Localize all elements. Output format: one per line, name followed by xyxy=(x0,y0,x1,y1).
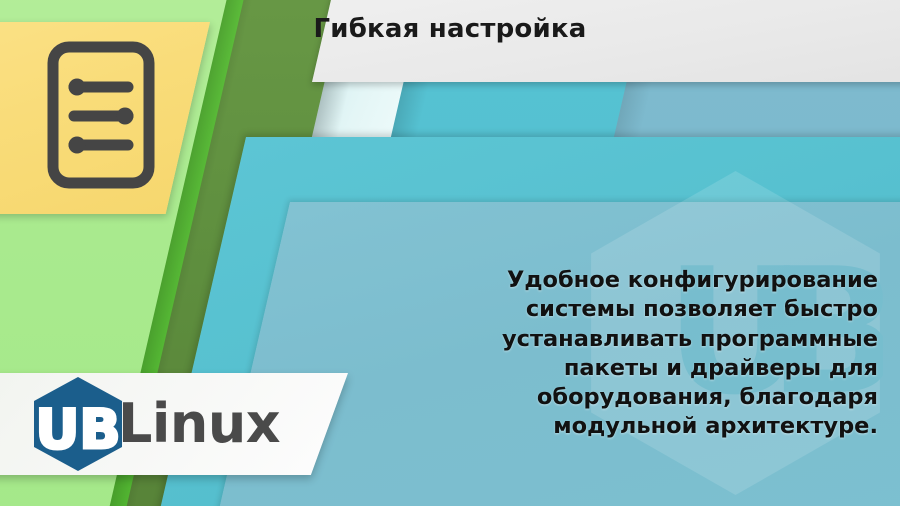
logo-wordmark: Linux xyxy=(118,397,280,451)
slide-canvas: U B Гибкая настройка Удобное конфигуриро… xyxy=(0,0,900,506)
ub-hexagon-icon: UB xyxy=(32,376,124,472)
settings-sliders-icon xyxy=(46,40,156,190)
page-title: Гибкая настройка xyxy=(0,14,900,44)
brand-logo: UB Linux xyxy=(32,372,280,476)
svg-text:UB: UB xyxy=(35,398,120,461)
body-paragraph: Удобное конфигурирование системы позволя… xyxy=(408,266,878,442)
